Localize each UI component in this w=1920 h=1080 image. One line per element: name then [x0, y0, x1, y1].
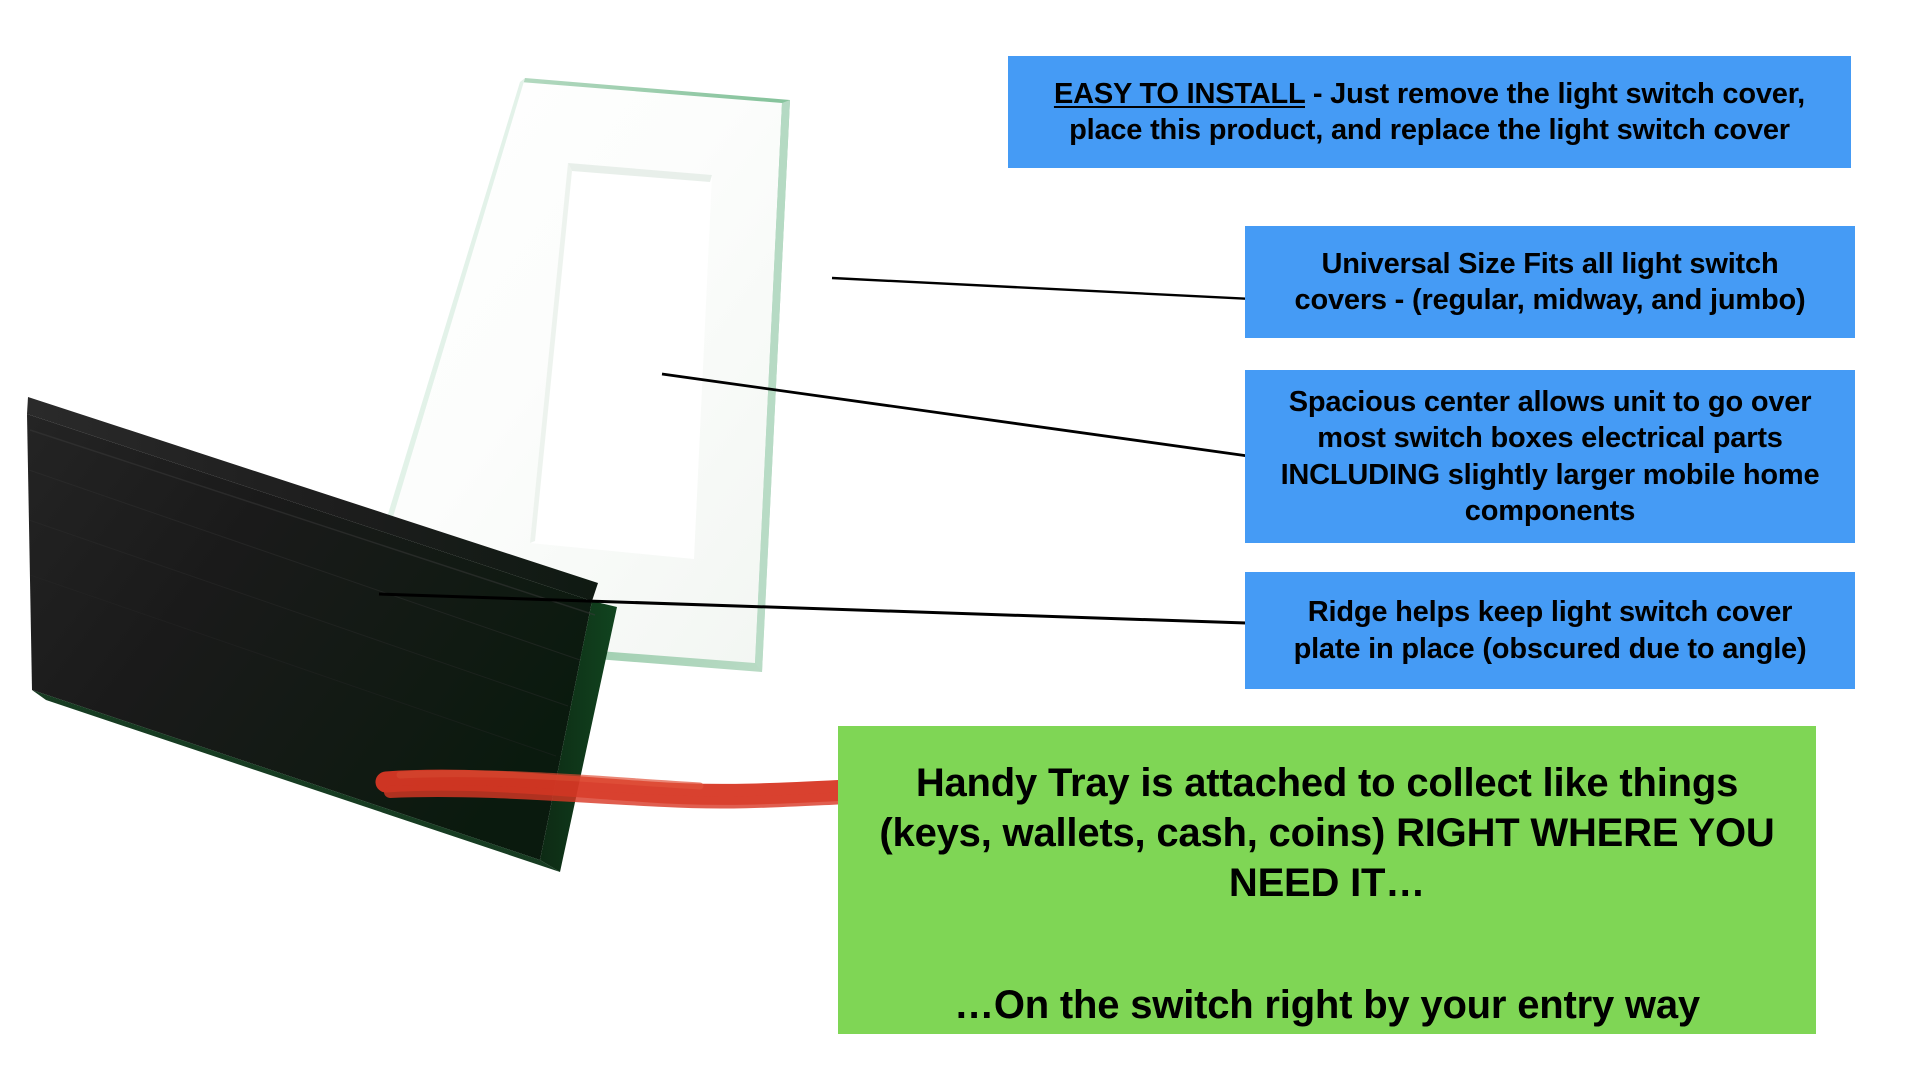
callout-easy-install: EASY TO INSTALL - Just remove the light …	[1008, 56, 1851, 168]
callout-easy-install-line1-rest: - Just remove the light switch cover,	[1305, 78, 1805, 110]
callout-handy-tray-line2: (keys, wallets, cash, coins) RIGHT WHERE…	[879, 808, 1774, 858]
callout-easy-install-lead: EASY TO INSTALL	[1054, 78, 1305, 110]
product-illustration	[0, 0, 900, 1080]
callout-universal-size-line1: Universal Size Fits all light switch	[1322, 246, 1779, 282]
callout-handy-tray: Handy Tray is attached to collect like t…	[838, 726, 1816, 1034]
callout-easy-install-line1: EASY TO INSTALL - Just remove the light …	[1054, 76, 1805, 112]
callout-universal-size: Universal Size Fits all light switch cov…	[1245, 226, 1855, 338]
callout-spacious-center-line3: INCLUDING slightly larger mobile home	[1281, 457, 1820, 493]
callout-spacious-center-line1: Spacious center allows unit to go over	[1289, 384, 1812, 420]
callout-ridge-line2: plate in place (obscured due to angle)	[1294, 631, 1807, 667]
callout-ridge: Ridge helps keep light switch cover plat…	[1245, 572, 1855, 689]
callout-handy-tray-main: Handy Tray is attached to collect like t…	[879, 758, 1774, 908]
callout-universal-size-line2: covers - (regular, midway, and jumbo)	[1295, 282, 1806, 318]
product-photo	[0, 0, 900, 1080]
callout-spacious-center: Spacious center allows unit to go over m…	[1245, 370, 1855, 543]
callout-ridge-line1: Ridge helps keep light switch cover	[1308, 594, 1793, 630]
callout-handy-tray-line1: Handy Tray is attached to collect like t…	[879, 758, 1774, 808]
callout-spacious-center-line4: components	[1465, 493, 1635, 529]
infographic-canvas: EASY TO INSTALL - Just remove the light …	[0, 0, 1920, 1080]
callout-spacious-center-line2: most switch boxes electrical parts	[1317, 420, 1782, 456]
callout-handy-tray-line4: …On the switch right by your entry way	[954, 980, 1700, 1030]
callout-handy-tray-line3: NEED IT…	[879, 858, 1774, 908]
callout-easy-install-line2: place this product, and replace the ligh…	[1069, 112, 1790, 148]
